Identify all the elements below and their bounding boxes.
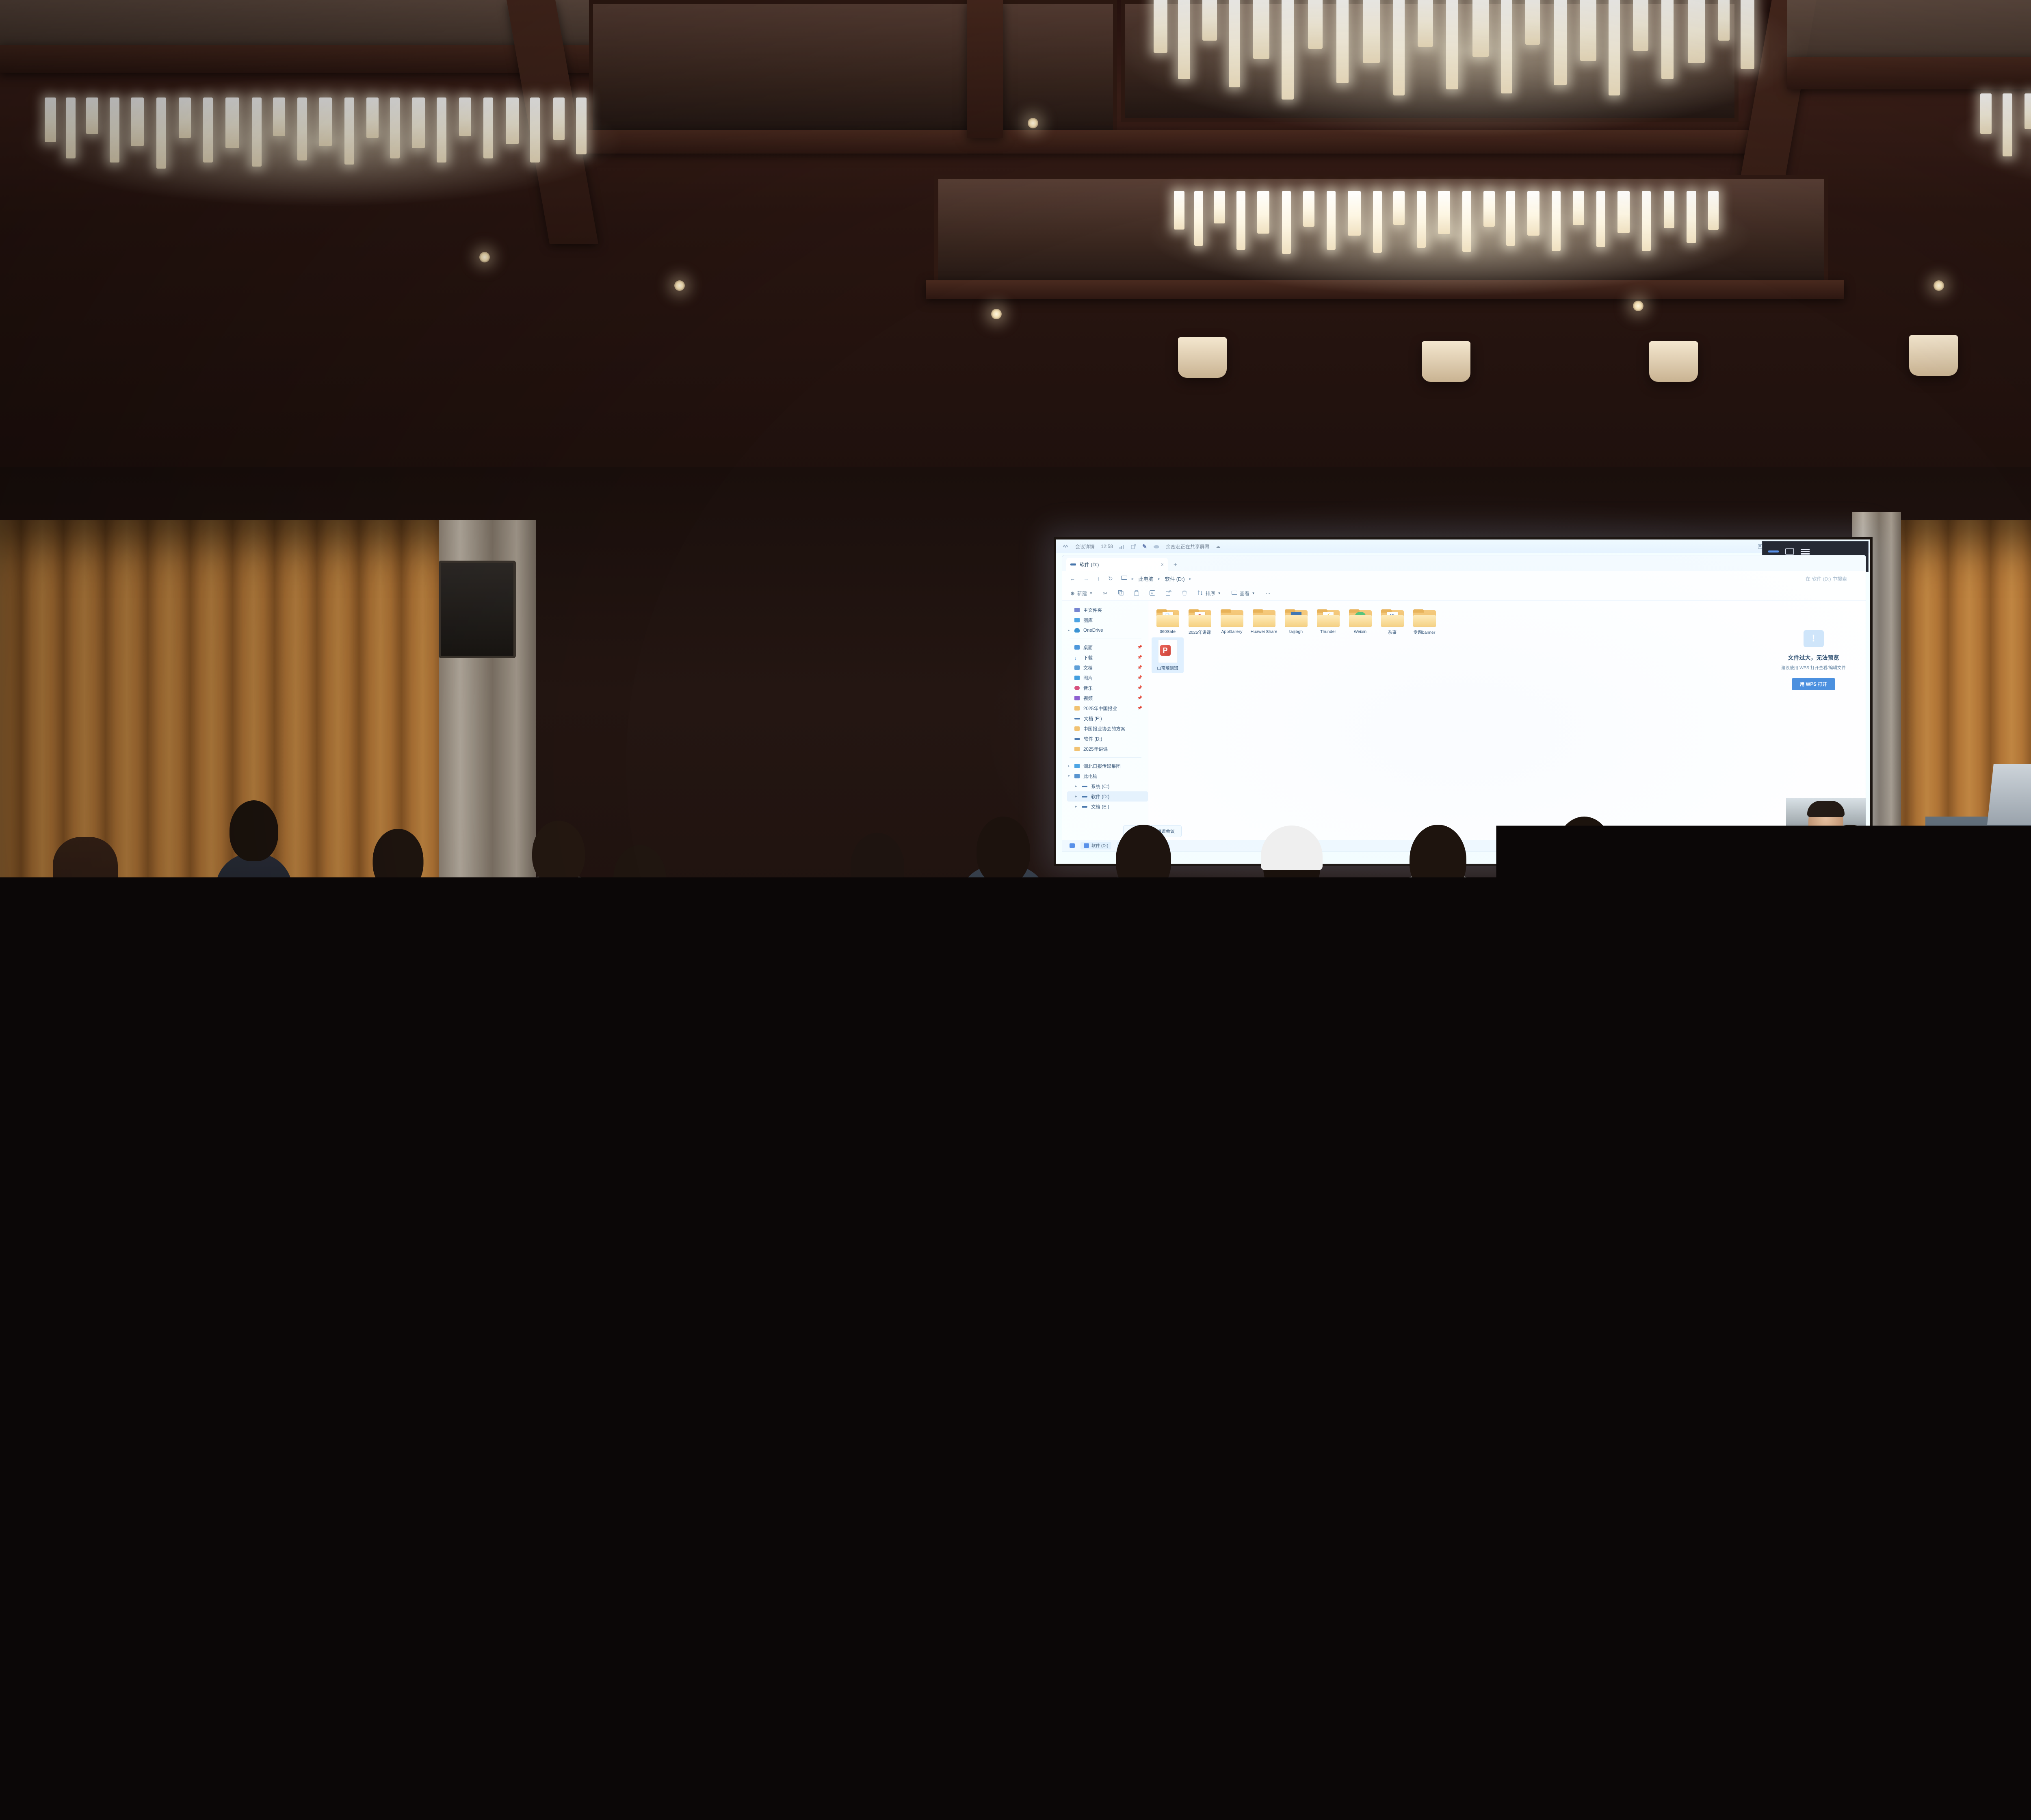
sidebar-item-videos[interactable]: 视频 📌 (1067, 693, 1148, 703)
windows-start-icon[interactable] (1070, 843, 1075, 848)
explorer-tab-active[interactable]: 软件 (D:) × (1066, 558, 1168, 571)
list-item[interactable]: 专题banner (1408, 607, 1440, 637)
meeting-toolbar[interactable]: 会议详情 12:58 ✎ 余宽宏正在共享屏幕 ☁ 演讲 (1056, 539, 1870, 553)
attendee (1954, 1003, 2031, 1337)
sidebar-item-drive-e[interactable]: 文档 (E:) (1067, 713, 1148, 724)
plus-circle-icon: ⊕ (1070, 590, 1075, 597)
chevron-right-icon[interactable]: ▸ (1075, 794, 1077, 799)
sidebar-item-onedrive[interactable]: ▸ OneDrive (1067, 625, 1148, 635)
hamburger-menu-icon[interactable] (1801, 549, 1810, 555)
drive-icon (1082, 806, 1087, 808)
drive-icon (1074, 738, 1080, 740)
breadcrumb-item-0[interactable]: 此电脑 (1138, 575, 1154, 583)
explorer-tabstrip[interactable]: 软件 (D:) × + (1062, 555, 1866, 571)
attendee (593, 841, 686, 1016)
more-icon: ⋯ (1266, 591, 1271, 596)
view-icon (1232, 590, 1237, 596)
attendee (252, 1024, 422, 1316)
chevron-down-icon[interactable]: ▾ (1068, 774, 1070, 778)
plus-icon[interactable]: + (1174, 561, 1177, 571)
sidebar-divider (1070, 639, 1141, 639)
attendee-front (0, 1349, 232, 1820)
pin-icon[interactable]: 📌 (1137, 655, 1142, 660)
more-options-button[interactable]: ⋯ (1266, 591, 1271, 596)
preview-pane: ! 文件过大，无法预览 建议使用 WPS 打开查看/编辑文件 用 WPS 打开 (1761, 601, 1866, 851)
pin-icon[interactable]: 📌 (1137, 696, 1142, 700)
attendee (1243, 825, 1340, 1012)
sidebar-item-downloads[interactable]: ↓ 下载 📌 (1067, 652, 1148, 663)
sort-button[interactable]: 排序 ▼ (1197, 590, 1221, 597)
attendee (780, 1012, 959, 1328)
rename-icon: A (1150, 590, 1155, 597)
gallery-icon (1074, 618, 1080, 622)
cloud-icon: ☁ (1216, 544, 1221, 549)
delete-icon (1182, 590, 1187, 597)
this-pc-icon (1074, 774, 1080, 778)
attendee (1799, 1007, 1978, 1332)
view-button[interactable]: 查看 ▼ (1232, 590, 1255, 597)
breadcrumb-item-1[interactable]: 软件 (D:) (1165, 575, 1184, 583)
folder-icon (1349, 609, 1372, 627)
drive-icon (1082, 786, 1087, 787)
arrow-up-icon[interactable]: ↑ (1097, 575, 1100, 582)
attendee (959, 812, 1048, 995)
sidebar-item-gallery[interactable]: 图库 (1067, 615, 1148, 625)
drive-icon (1074, 718, 1080, 719)
folder-icon (1074, 706, 1080, 711)
sidebar-divider (1070, 757, 1141, 758)
file-grid[interactable]: 📄 360Safe P (1148, 601, 1761, 680)
sidebar-item-folder-2025-baoye[interactable]: 2025年中国报业 📌 (1067, 703, 1148, 713)
wall-speaker (439, 561, 516, 658)
documents-icon (1074, 665, 1080, 670)
explorer-navbar[interactable]: ← → ↑ ↻ ▸ 此电脑 ▸ 软件 (D:) ▸ 在 软件 (D:) 中 (1062, 571, 1866, 586)
explorer-tab-title: 软件 (D:) (1080, 561, 1099, 568)
share-icon (1166, 590, 1171, 597)
download-icon: ↓ (1074, 655, 1080, 660)
list-item[interactable]: P 2025年讲课 (1184, 607, 1216, 637)
cut-icon: ✂ (1103, 590, 1108, 597)
explorer-sidebar[interactable]: 主文件夹 图库 ▸ OneDrive (1062, 601, 1148, 851)
sharing-status-text: 余宽宏正在共享屏幕 (1166, 543, 1210, 550)
home-icon (1074, 608, 1080, 612)
pictures-icon (1074, 676, 1080, 680)
annotate-icon[interactable]: ✎ (1142, 543, 1147, 550)
drive-icon (1082, 796, 1087, 797)
chandelier-left (41, 97, 601, 171)
music-icon (1074, 686, 1080, 690)
rename-button[interactable]: A (1150, 590, 1155, 597)
explorer-file-area[interactable]: 📄 360Safe P (1148, 601, 1761, 851)
chandelier-right (1974, 93, 2031, 167)
network-icon (1074, 764, 1080, 768)
folder-icon: ⚡ (1317, 609, 1340, 627)
list-item[interactable]: ⚡ Thunder (1312, 607, 1344, 637)
minimize-icon[interactable] (1768, 550, 1779, 552)
folder-icon (1074, 747, 1080, 751)
svg-text:A: A (1151, 592, 1153, 595)
sidebar-item-folder-2025-jiangke[interactable]: 2025年讲课 (1067, 744, 1148, 754)
attendee (45, 837, 126, 1007)
sidebar-item-documents[interactable]: 文档 📌 (1067, 663, 1148, 673)
chevron-down-icon[interactable]: ▼ (1089, 591, 1093, 595)
attendee (833, 829, 922, 1007)
paste-button[interactable] (1134, 590, 1139, 597)
sidebar-item-drive-d[interactable]: 软件 (D:) (1067, 734, 1148, 744)
explorer-icon (1084, 843, 1089, 848)
list-item[interactable]: taijibgh (1280, 607, 1312, 637)
desktop-icon (1074, 645, 1080, 650)
pin-icon[interactable]: 📌 (1137, 706, 1142, 711)
attendee (516, 817, 601, 995)
sidebar-item-music[interactable]: 音乐 📌 (1067, 683, 1148, 693)
signal-bars-icon (1119, 544, 1125, 549)
preview-subtitle: 建议使用 WPS 打开查看/编辑文件 (1778, 665, 1849, 671)
list-item[interactable]: 📄 360Safe (1152, 607, 1184, 637)
share-button[interactable] (1166, 590, 1171, 597)
attendee (1799, 821, 1901, 1012)
pin-icon[interactable]: 📌 (1137, 665, 1142, 670)
presenter-laptop (1987, 764, 2031, 825)
drive-icon (1070, 563, 1076, 565)
attendee (1097, 821, 1190, 1003)
folder-icon: W (1381, 609, 1404, 627)
copy-button[interactable] (1118, 590, 1124, 597)
folder-icon: P (1189, 609, 1211, 627)
file-explorer-window[interactable]: 软件 (D:) × + ← → ↑ ↻ ▸ 此电脑 (1062, 555, 1866, 851)
pin-icon[interactable]: 📌 (1137, 686, 1142, 690)
conference-room-scene: 会议详情 12:58 ✎ 余宽宏正在共享屏幕 ☁ 演讲 (0, 0, 2031, 1820)
attendee (1389, 821, 1487, 1003)
pin-icon[interactable]: 📌 (1137, 676, 1142, 680)
meeting-details-label[interactable]: 会议详情 (1075, 543, 1095, 550)
videos-icon (1074, 696, 1080, 700)
attendee (57, 983, 232, 1292)
chandelier-main (1145, 0, 1779, 110)
arrow-left-icon[interactable]: ← (1070, 575, 1075, 582)
onedrive-icon (1074, 628, 1080, 633)
folder-icon (1221, 609, 1243, 627)
chevron-down-icon[interactable]: ▼ (1252, 591, 1255, 595)
attendee (1308, 987, 1483, 1308)
folder-icon: 📄 (1156, 609, 1179, 627)
chevron-right-icon[interactable]: ▸ (1075, 804, 1077, 809)
chevron-down-icon[interactable]: ▼ (1218, 591, 1221, 595)
list-item[interactable]: Weixin (1344, 607, 1376, 637)
refresh-icon[interactable]: ↻ (1108, 575, 1113, 582)
sidebar-item-this-pc[interactable]: ▾ 此电脑 (1067, 771, 1148, 781)
list-item[interactable]: W 杂事 (1376, 607, 1408, 637)
open-with-wps-button[interactable]: 用 WPS 打开 (1792, 678, 1835, 690)
search-input[interactable]: 在 软件 (D:) 中搜索 (1806, 575, 1858, 582)
pin-icon[interactable]: 📌 (1137, 645, 1142, 650)
powerpoint-file-icon: P (1158, 639, 1178, 663)
folder-icon (1074, 726, 1080, 731)
popout-icon[interactable] (1131, 544, 1136, 549)
list-item[interactable]: AppGallery (1216, 607, 1248, 637)
attendee (215, 796, 292, 967)
sidebar-item-drive-d-tree[interactable]: ▸ 软件 (D:) (1067, 791, 1148, 802)
chandelier-center-lower (1170, 191, 1730, 260)
cut-button[interactable]: ✂ (1103, 590, 1108, 597)
chevron-right-icon[interactable]: ▸ (1075, 784, 1077, 789)
share-screen-icon (1153, 544, 1160, 549)
attendee (1535, 812, 1633, 1003)
restore-window-icon[interactable] (1785, 548, 1794, 555)
meeting-timer: 12:58 (1101, 544, 1113, 549)
folder-icon (1285, 609, 1308, 627)
breadcrumb[interactable]: ▸ 此电脑 ▸ 软件 (D:) ▸ (1121, 575, 1191, 583)
new-button[interactable]: ⊕ 新建 ▼ (1070, 590, 1093, 597)
chevron-right-icon[interactable]: ▸ (1068, 628, 1070, 633)
sidebar-item-network-hubei[interactable]: ▸ 湖北日报传媒集团 (1067, 761, 1148, 771)
attendee (585, 1040, 776, 1365)
folder-icon (1253, 609, 1275, 627)
this-pc-icon (1121, 576, 1127, 582)
attendee (1674, 825, 1771, 1012)
attendee (1479, 1003, 1661, 1328)
list-item[interactable]: Huawei Share (1248, 607, 1280, 637)
tencent-meeting-icon (1063, 544, 1069, 548)
delete-button[interactable] (1182, 590, 1187, 597)
attendee-front (467, 1519, 743, 1820)
sidebar-item-desktop[interactable]: 桌面 📌 (1067, 642, 1148, 652)
folder-icon (1413, 609, 1436, 627)
sidebar-item-drive-c[interactable]: ▸ 系统 (C:) (1067, 781, 1148, 791)
chevron-right-icon[interactable]: ▸ (1068, 764, 1070, 768)
sidebar-item-home[interactable]: 主文件夹 (1067, 605, 1148, 615)
sidebar-item-drive-e-tree[interactable]: ▸ 文档 (E:) (1067, 802, 1148, 812)
attendee-front (877, 1284, 1210, 1820)
close-icon[interactable]: × (1161, 561, 1164, 568)
sidebar-item-pictures[interactable]: 图片 📌 (1067, 673, 1148, 683)
copy-icon (1118, 590, 1124, 597)
explorer-toolbar[interactable]: ⊕ 新建 ▼ ✂ A (1062, 586, 1866, 601)
projection-screen: 会议详情 12:58 ✎ 余宽宏正在共享屏幕 ☁ 演讲 (1054, 537, 1873, 866)
preview-title: 文件过大，无法预览 (1788, 654, 1839, 662)
arrow-right-icon[interactable]: → (1083, 575, 1089, 582)
attendee-front (1503, 1292, 1828, 1820)
attendee (357, 825, 439, 995)
paste-icon (1134, 590, 1139, 597)
attendee (1946, 837, 2031, 1028)
sidebar-item-folder-fangan[interactable]: 中国报业协会的方案 (1067, 724, 1148, 734)
list-item-selected[interactable]: P 山南培训班 (1152, 637, 1184, 673)
ceiling (0, 0, 2031, 536)
file-warning-icon: ! (1804, 630, 1824, 647)
sort-icon (1197, 590, 1203, 596)
